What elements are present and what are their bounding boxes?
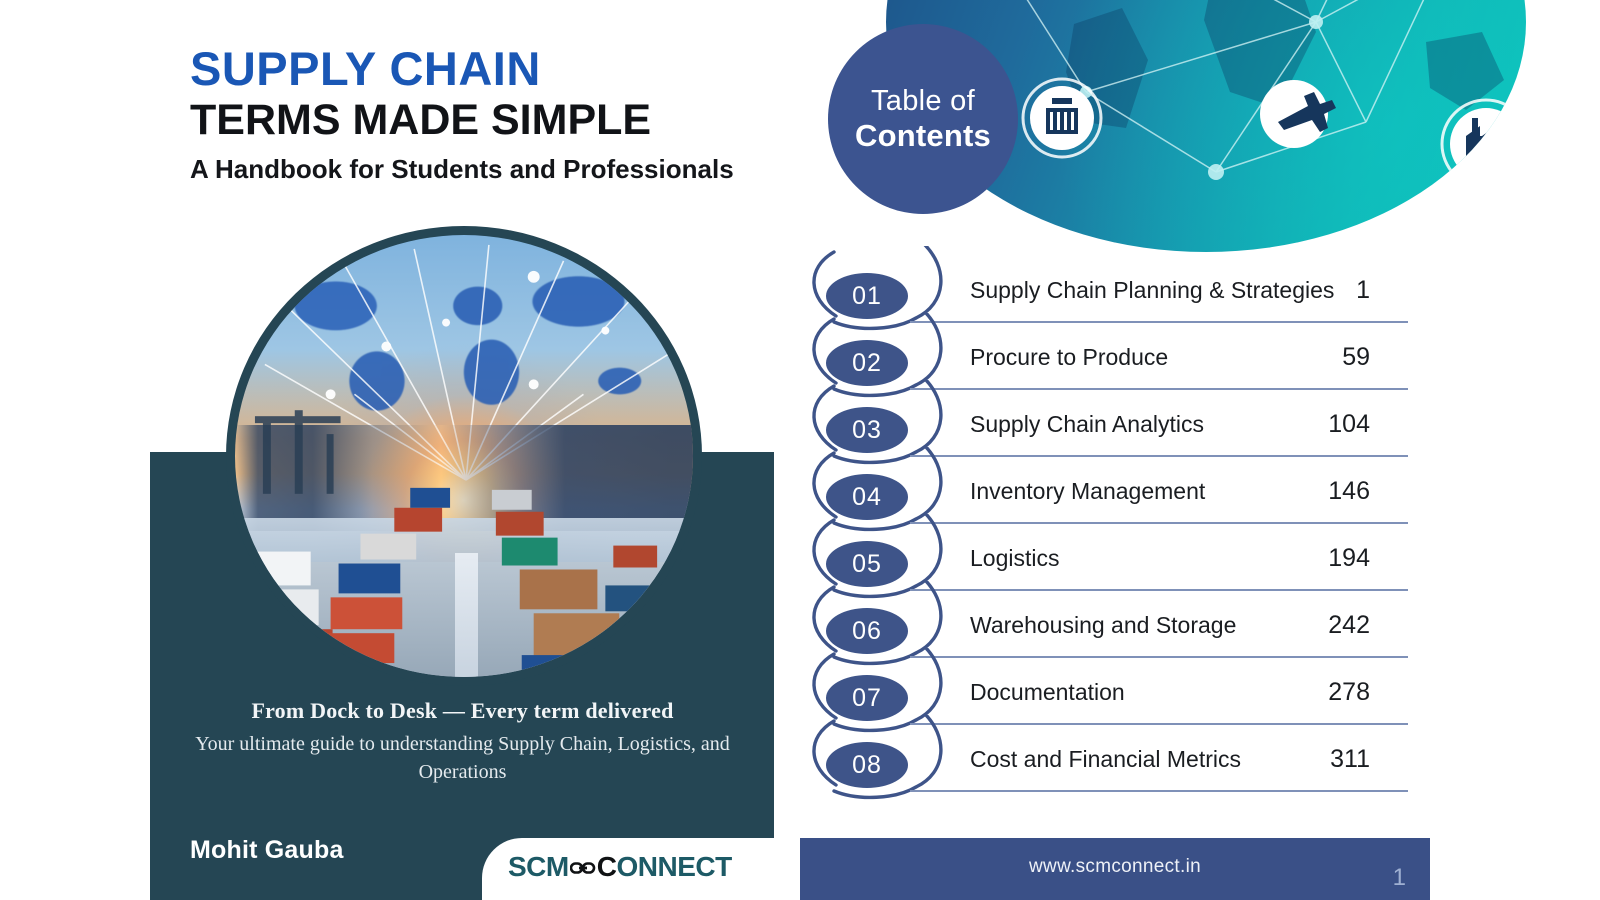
brand-logo-plate: SCM C ONNECT [482,838,790,900]
footer-bar: www.scmconnect.in 1 [800,838,1430,900]
toc-entry-page: 278 [1282,678,1370,707]
toc-entry-rule [910,388,1408,390]
toc-entry-badge: 08 [826,742,908,788]
factory-icon [1442,100,1526,188]
toc-entry-number: 01 [852,282,882,311]
toc-entry[interactable]: 05Logistics194 [790,530,1600,597]
toc-entry-badge: 01 [826,273,908,319]
toc-entry-badge: 03 [826,407,908,453]
hero-circular-image [226,226,702,686]
toc-entry-page: 242 [1282,611,1370,640]
toc-entry-page: 146 [1282,477,1370,506]
toc-entry[interactable]: 03Supply Chain Analytics104 [790,396,1600,463]
toc-heading-line1: Table of [871,85,975,118]
tagline-sub: Your ultimate guide to understanding Sup… [190,730,735,787]
toc-entry-rule [910,656,1408,658]
toc-entry-badge: 07 [826,675,908,721]
page-number: 1 [1360,864,1406,892]
title-line-primary: SUPPLY CHAIN [190,44,770,93]
toc-entry-page: 1 [1282,276,1370,305]
footer-website-url[interactable]: www.scmconnect.in [800,856,1430,878]
toc-entry-badge: 06 [826,608,908,654]
toc-entry[interactable]: 02Procure to Produce59 [790,329,1600,396]
toc-entry-rule [910,522,1408,524]
table-of-contents-panel: Table of Contents 01Supply Chain Plannin… [790,0,1600,900]
toc-entry[interactable]: 06Warehousing and Storage242 [790,597,1600,664]
brand-logo: SCM C ONNECT [508,851,732,883]
toc-entry-rule [910,321,1408,323]
toc-entry-badge: 04 [826,474,908,520]
toc-entry[interactable]: 08Cost and Financial Metrics311 [790,731,1600,798]
toc-entry-number: 05 [852,550,882,579]
toc-entry-list: 01Supply Chain Planning & Strategies102P… [790,262,1600,798]
toc-entry-page: 311 [1282,745,1370,774]
toc-entry-rule [910,790,1408,792]
book-title-block: SUPPLY CHAIN TERMS MADE SIMPLE A Handboo… [190,44,770,185]
toc-entry-number: 03 [852,416,882,445]
toc-entry-number: 04 [852,483,882,512]
toc-entry-page: 59 [1282,343,1370,372]
toc-entry-badge: 02 [826,340,908,386]
container-icon [1023,79,1101,157]
toc-entry-number: 08 [852,751,882,780]
toc-entry[interactable]: 04Inventory Management146 [790,463,1600,530]
hero-containers [235,235,693,677]
toc-entry-rule [910,455,1408,457]
toc-heading-badge: Table of Contents [828,24,1018,214]
toc-entry-rule [910,723,1408,725]
toc-entry-badge: 05 [826,541,908,587]
toc-entry-page: 194 [1282,544,1370,573]
title-line-secondary: TERMS MADE SIMPLE [190,97,770,144]
logo-prefix: SCM [508,851,569,883]
toc-entry-number: 07 [852,684,882,713]
toc-entry-rule [910,589,1408,591]
slide-page: SUPPLY CHAIN TERMS MADE SIMPLE A Handboo… [0,0,1600,900]
banner-icon-badges [1023,0,1526,188]
tagline-main: From Dock to Desk — Every term delivered [190,698,735,724]
author-name: Mohit Gauba [190,836,344,865]
chain-link-icon [570,858,596,876]
cover-tagline: From Dock to Desk — Every term delivered… [190,698,735,787]
toc-entry-page: 104 [1282,410,1370,439]
toc-heading-line2: Contents [855,118,991,154]
toc-entry-number: 02 [852,349,882,378]
toc-entry-number: 06 [852,617,882,646]
logo-suffix: ONNECT [616,851,731,883]
airplane-icon [1260,80,1336,148]
logo-mid: C [597,851,617,883]
book-subtitle: A Handbook for Students and Professional… [190,154,770,185]
book-cover: SUPPLY CHAIN TERMS MADE SIMPLE A Handboo… [0,0,790,900]
toc-entry[interactable]: 01Supply Chain Planning & Strategies1 [790,262,1600,329]
toc-entry[interactable]: 07Documentation278 [790,664,1600,731]
